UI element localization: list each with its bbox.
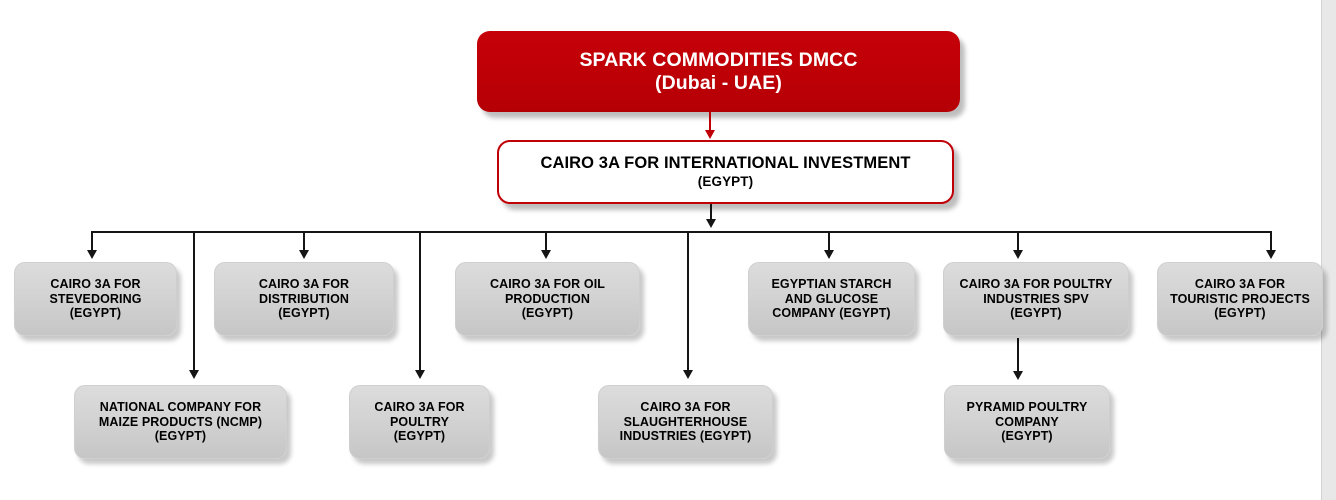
arrowhead-spv-to-pyramid-poultry: [1013, 371, 1023, 380]
arrowhead-bus-to-stevedoring: [87, 250, 97, 259]
arrowhead-bus-to-egyptian-starch: [824, 250, 834, 259]
arrowhead-bus-to-oil-production: [541, 250, 551, 259]
node-label: PYRAMID POULTRY COMPANY (EGYPT): [945, 400, 1109, 444]
node-pyramid-poultry-company[interactable]: PYRAMID POULTRY COMPANY (EGYPT): [944, 385, 1110, 459]
node-label: CAIRO 3A FOR SLAUGHTERHOUSE INDUSTRIES (…: [599, 400, 772, 444]
connector-horizontal-bus: [91, 231, 1272, 233]
arrowhead-bus-to-touristic-projects: [1266, 250, 1276, 259]
node-label: CAIRO 3A FOR STEVEDORING (EGYPT): [15, 277, 176, 321]
node-label: SPARK COMMODITIES DMCC (Dubai - UAE): [477, 49, 960, 95]
arrowhead-bus-to-cairo-3a-poultry: [415, 370, 425, 379]
connector-bus-to-cairo-3a-poultry: [419, 231, 421, 374]
node-cairo-3a-slaughterhouse-industries[interactable]: CAIRO 3A FOR SLAUGHTERHOUSE INDUSTRIES (…: [598, 385, 773, 459]
arrowhead-bus-to-ncmp: [189, 370, 199, 379]
node-cairo-3a-touristic-projects[interactable]: CAIRO 3A FOR TOURISTIC PROJECTS (EGYPT): [1157, 262, 1323, 336]
connector-spv-to-pyramid-poultry: [1017, 338, 1019, 375]
node-cairo-3a-poultry-industries-spv[interactable]: CAIRO 3A FOR POULTRY INDUSTRIES SPV (EGY…: [943, 262, 1129, 336]
node-cairo-3a-poultry[interactable]: CAIRO 3A FOR POULTRY (EGYPT): [349, 385, 490, 459]
node-label: CAIRO 3A FOR TOURISTIC PROJECTS (EGYPT): [1158, 277, 1322, 321]
arrowhead-bus-to-poultry-industries-spv: [1013, 250, 1023, 259]
node-label: NATIONAL COMPANY FOR MAIZE PRODUCTS (NCM…: [75, 400, 286, 444]
node-cairo-3a-distribution[interactable]: CAIRO 3A FOR DISTRIBUTION (EGYPT): [214, 262, 394, 336]
node-label: CAIRO 3A FOR OIL PRODUCTION (EGYPT): [456, 277, 639, 321]
arrowhead-level2-to-bus: [706, 219, 716, 228]
arrowhead-bus-to-slaughterhouse: [683, 370, 693, 379]
node-cairo-3a-international-investment[interactable]: CAIRO 3A FOR INTERNATIONAL INVESTMENT (E…: [497, 140, 954, 204]
node-label: EGYPTIAN STARCH AND GLUCOSE COMPANY (EGY…: [749, 277, 914, 321]
node-egyptian-starch-glucose[interactable]: EGYPTIAN STARCH AND GLUCOSE COMPANY (EGY…: [748, 262, 915, 336]
node-label-line1: CAIRO 3A FOR INTERNATIONAL INVESTMENT: [540, 154, 910, 172]
node-spark-commodities-dmcc[interactable]: SPARK COMMODITIES DMCC (Dubai - UAE): [477, 31, 960, 112]
node-label: CAIRO 3A FOR POULTRY INDUSTRIES SPV (EGY…: [944, 277, 1128, 321]
node-label: CAIRO 3A FOR DISTRIBUTION (EGYPT): [215, 277, 393, 321]
node-national-company-maize-products[interactable]: NATIONAL COMPANY FOR MAIZE PRODUCTS (NCM…: [74, 385, 287, 459]
connector-bus-to-slaughterhouse: [687, 231, 689, 374]
node-label-line2: (EGYPT): [505, 174, 946, 190]
arrowhead-bus-to-distribution: [299, 250, 309, 259]
node-label: CAIRO 3A FOR POULTRY (EGYPT): [350, 400, 489, 444]
connector-bus-to-ncmp: [193, 231, 195, 374]
node-cairo-3a-stevedoring[interactable]: CAIRO 3A FOR STEVEDORING (EGYPT): [14, 262, 177, 336]
page-margin-strip: [1321, 0, 1336, 500]
org-chart-canvas: SPARK COMMODITIES DMCC (Dubai - UAE) CAI…: [0, 0, 1336, 500]
node-cairo-3a-oil-production[interactable]: CAIRO 3A FOR OIL PRODUCTION (EGYPT): [455, 262, 640, 336]
